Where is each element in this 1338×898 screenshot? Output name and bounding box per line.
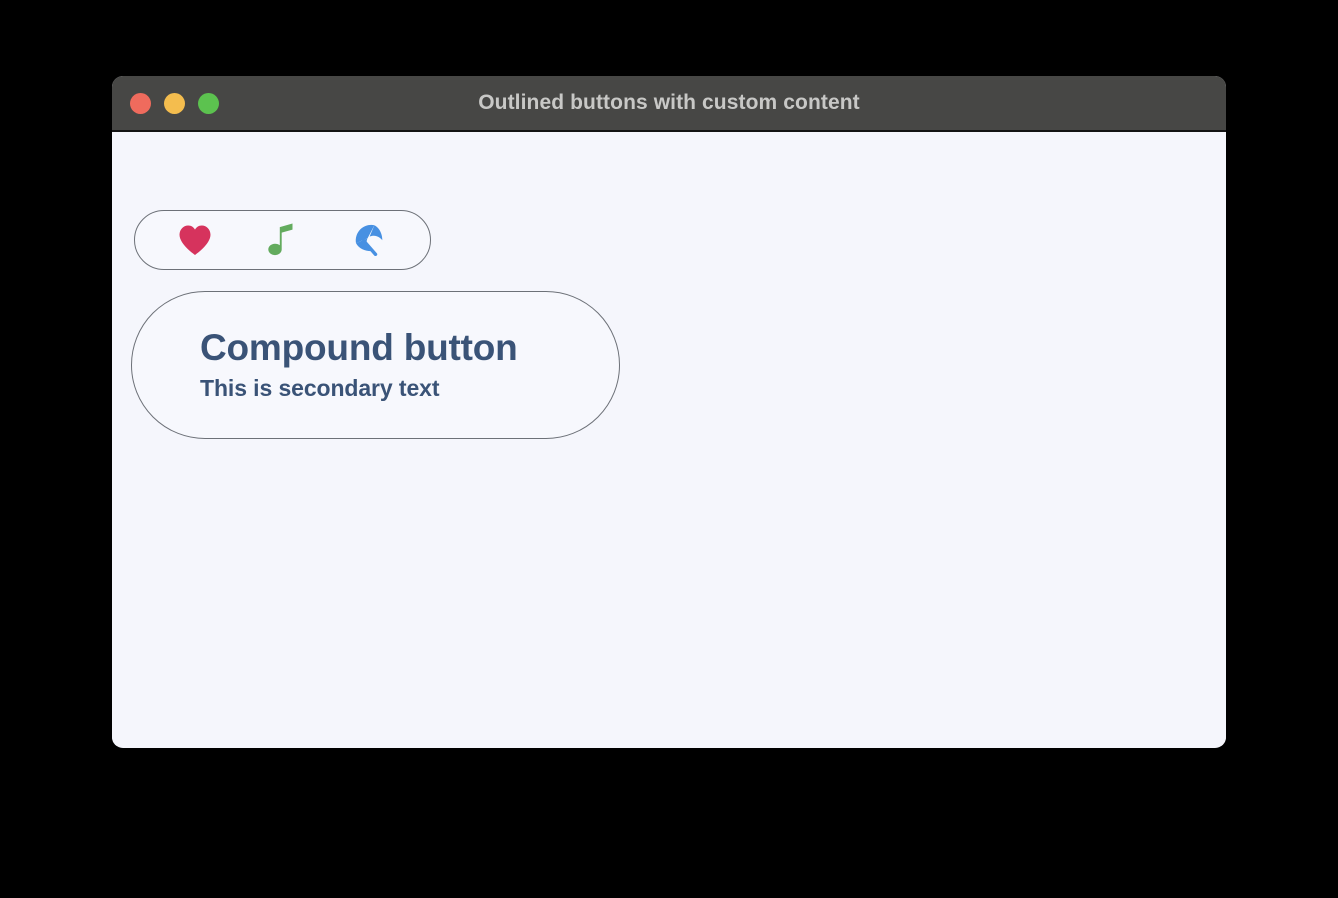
outlined-icon-button-group: [134, 210, 431, 270]
compound-button[interactable]: Compound button This is secondary text: [131, 291, 620, 439]
beach-umbrella-icon: [354, 224, 386, 256]
close-window-button[interactable]: [130, 93, 151, 114]
beach-umbrella-icon-button[interactable]: [342, 216, 398, 264]
maximize-window-button[interactable]: [198, 93, 219, 114]
traffic-light-group: [112, 93, 219, 114]
window-titlebar: Outlined buttons with custom content: [112, 76, 1226, 132]
music-note-icon-button[interactable]: [254, 216, 310, 264]
music-note-icon: [268, 223, 296, 257]
window-title: Outlined buttons with custom content: [112, 91, 1226, 115]
minimize-window-button[interactable]: [164, 93, 185, 114]
app-window: Outlined buttons with custom content: [112, 76, 1226, 748]
compound-button-secondary-text: This is secondary text: [200, 376, 619, 401]
window-client-area: Compound button This is secondary text: [112, 132, 1226, 746]
compound-button-primary-text: Compound button: [200, 329, 619, 368]
heart-icon: [178, 224, 212, 256]
heart-icon-button[interactable]: [167, 216, 223, 264]
